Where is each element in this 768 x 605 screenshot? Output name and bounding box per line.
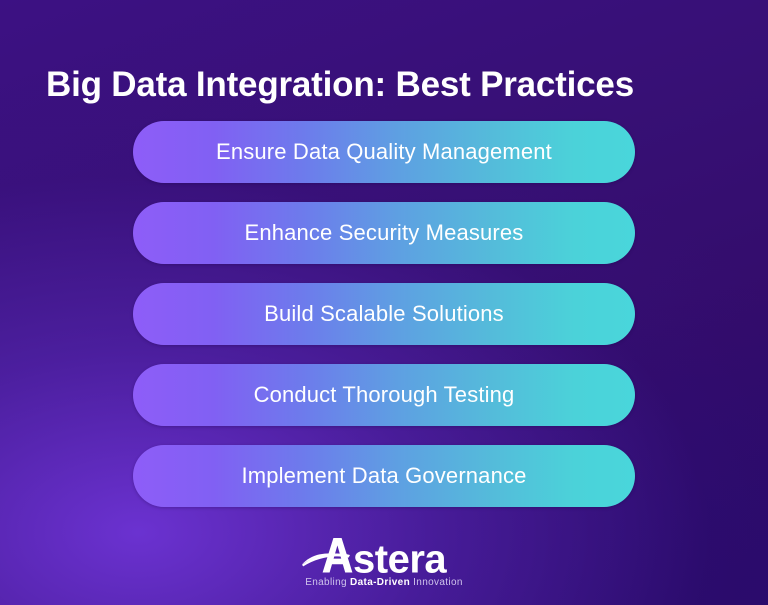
practice-label: Build Scalable Solutions — [264, 283, 504, 345]
svg-text:stera: stera — [353, 538, 447, 577]
list-item-practice-4: Conduct Thorough Testing — [133, 364, 635, 426]
tagline-suffix: Innovation — [410, 577, 463, 588]
best-practices-list: Ensure Data Quality Management Enhance S… — [133, 121, 635, 507]
tagline-bold: Data-Driven — [350, 577, 410, 588]
practice-label: Implement Data Governance — [241, 445, 526, 507]
list-item-practice-5: Implement Data Governance — [133, 445, 635, 507]
logo-tagline: Enabling Data-Driven Innovation — [305, 576, 463, 589]
page-title: Big Data Integration: Best Practices — [46, 63, 736, 107]
list-item-practice-2: Enhance Security Measures — [133, 202, 635, 264]
tagline-prefix: Enabling — [305, 577, 350, 588]
practice-label: Conduct Thorough Testing — [254, 364, 515, 426]
list-item-practice-3: Build Scalable Solutions — [133, 283, 635, 345]
practice-label: Ensure Data Quality Management — [216, 121, 552, 183]
practice-label: Enhance Security Measures — [245, 202, 524, 264]
astera-logo-icon: stera — [300, 534, 468, 576]
astera-wordmark-icon: stera — [300, 534, 468, 576]
brand-logo: stera Enabling Data-Driven Innovation — [0, 534, 768, 589]
infographic-canvas: Big Data Integration: Best Practices Ens… — [0, 0, 768, 605]
list-item-practice-1: Ensure Data Quality Management — [133, 121, 635, 183]
